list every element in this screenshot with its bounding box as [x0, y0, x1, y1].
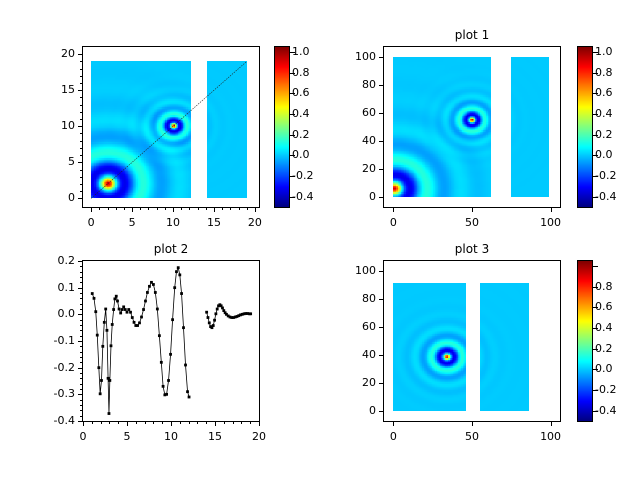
x-tick [393, 422, 394, 426]
panel-bottom_right: plot 3020406080100050100-0.4-0.20.00.20.… [0, 0, 640, 480]
figure-canvas: 0510152005101520-0.4-0.20.00.20.40.60.81… [0, 0, 640, 480]
colorbar-gradient [578, 261, 592, 421]
x-tick [472, 422, 473, 426]
colorbar-tick-label: 0.6 [595, 300, 613, 313]
y-tick-label: 60 [362, 320, 376, 333]
y-tick [379, 299, 383, 300]
y-tick [379, 355, 383, 356]
y-tick-label: 40 [362, 348, 376, 361]
image-block [393, 283, 465, 411]
plot-title: plot 3 [383, 242, 561, 256]
colorbar-tick-label: 0.2 [595, 342, 613, 355]
y-tick-label: 80 [362, 292, 376, 305]
colorbar-tick-label: 0.4 [595, 321, 613, 334]
y-tick [379, 411, 383, 412]
colorbar-tick-label: 0.8 [595, 280, 613, 293]
image-block [480, 283, 529, 411]
x-tick-label: 0 [368, 430, 418, 443]
colorbar-tick-label: -0.4 [595, 404, 616, 417]
y-tick-label: 100 [355, 264, 376, 277]
x-tick-label: 50 [447, 430, 497, 443]
x-tick-label: 100 [526, 430, 576, 443]
y-tick-label: 0 [369, 404, 376, 417]
y-tick [379, 271, 383, 272]
heatmap-canvas [480, 283, 529, 411]
colorbar-tick-label: -0.2 [595, 383, 616, 396]
x-tick [551, 422, 552, 426]
y-tick [379, 383, 383, 384]
colorbar [577, 260, 593, 422]
colorbar-tick-label: 0.0 [595, 362, 613, 375]
colorbar-tick-unlabeled [593, 266, 598, 267]
y-tick-label: 20 [362, 376, 376, 389]
axes-bottom_right [383, 260, 561, 422]
heatmap-canvas [393, 283, 465, 411]
image-layer [384, 261, 560, 421]
y-tick [379, 327, 383, 328]
